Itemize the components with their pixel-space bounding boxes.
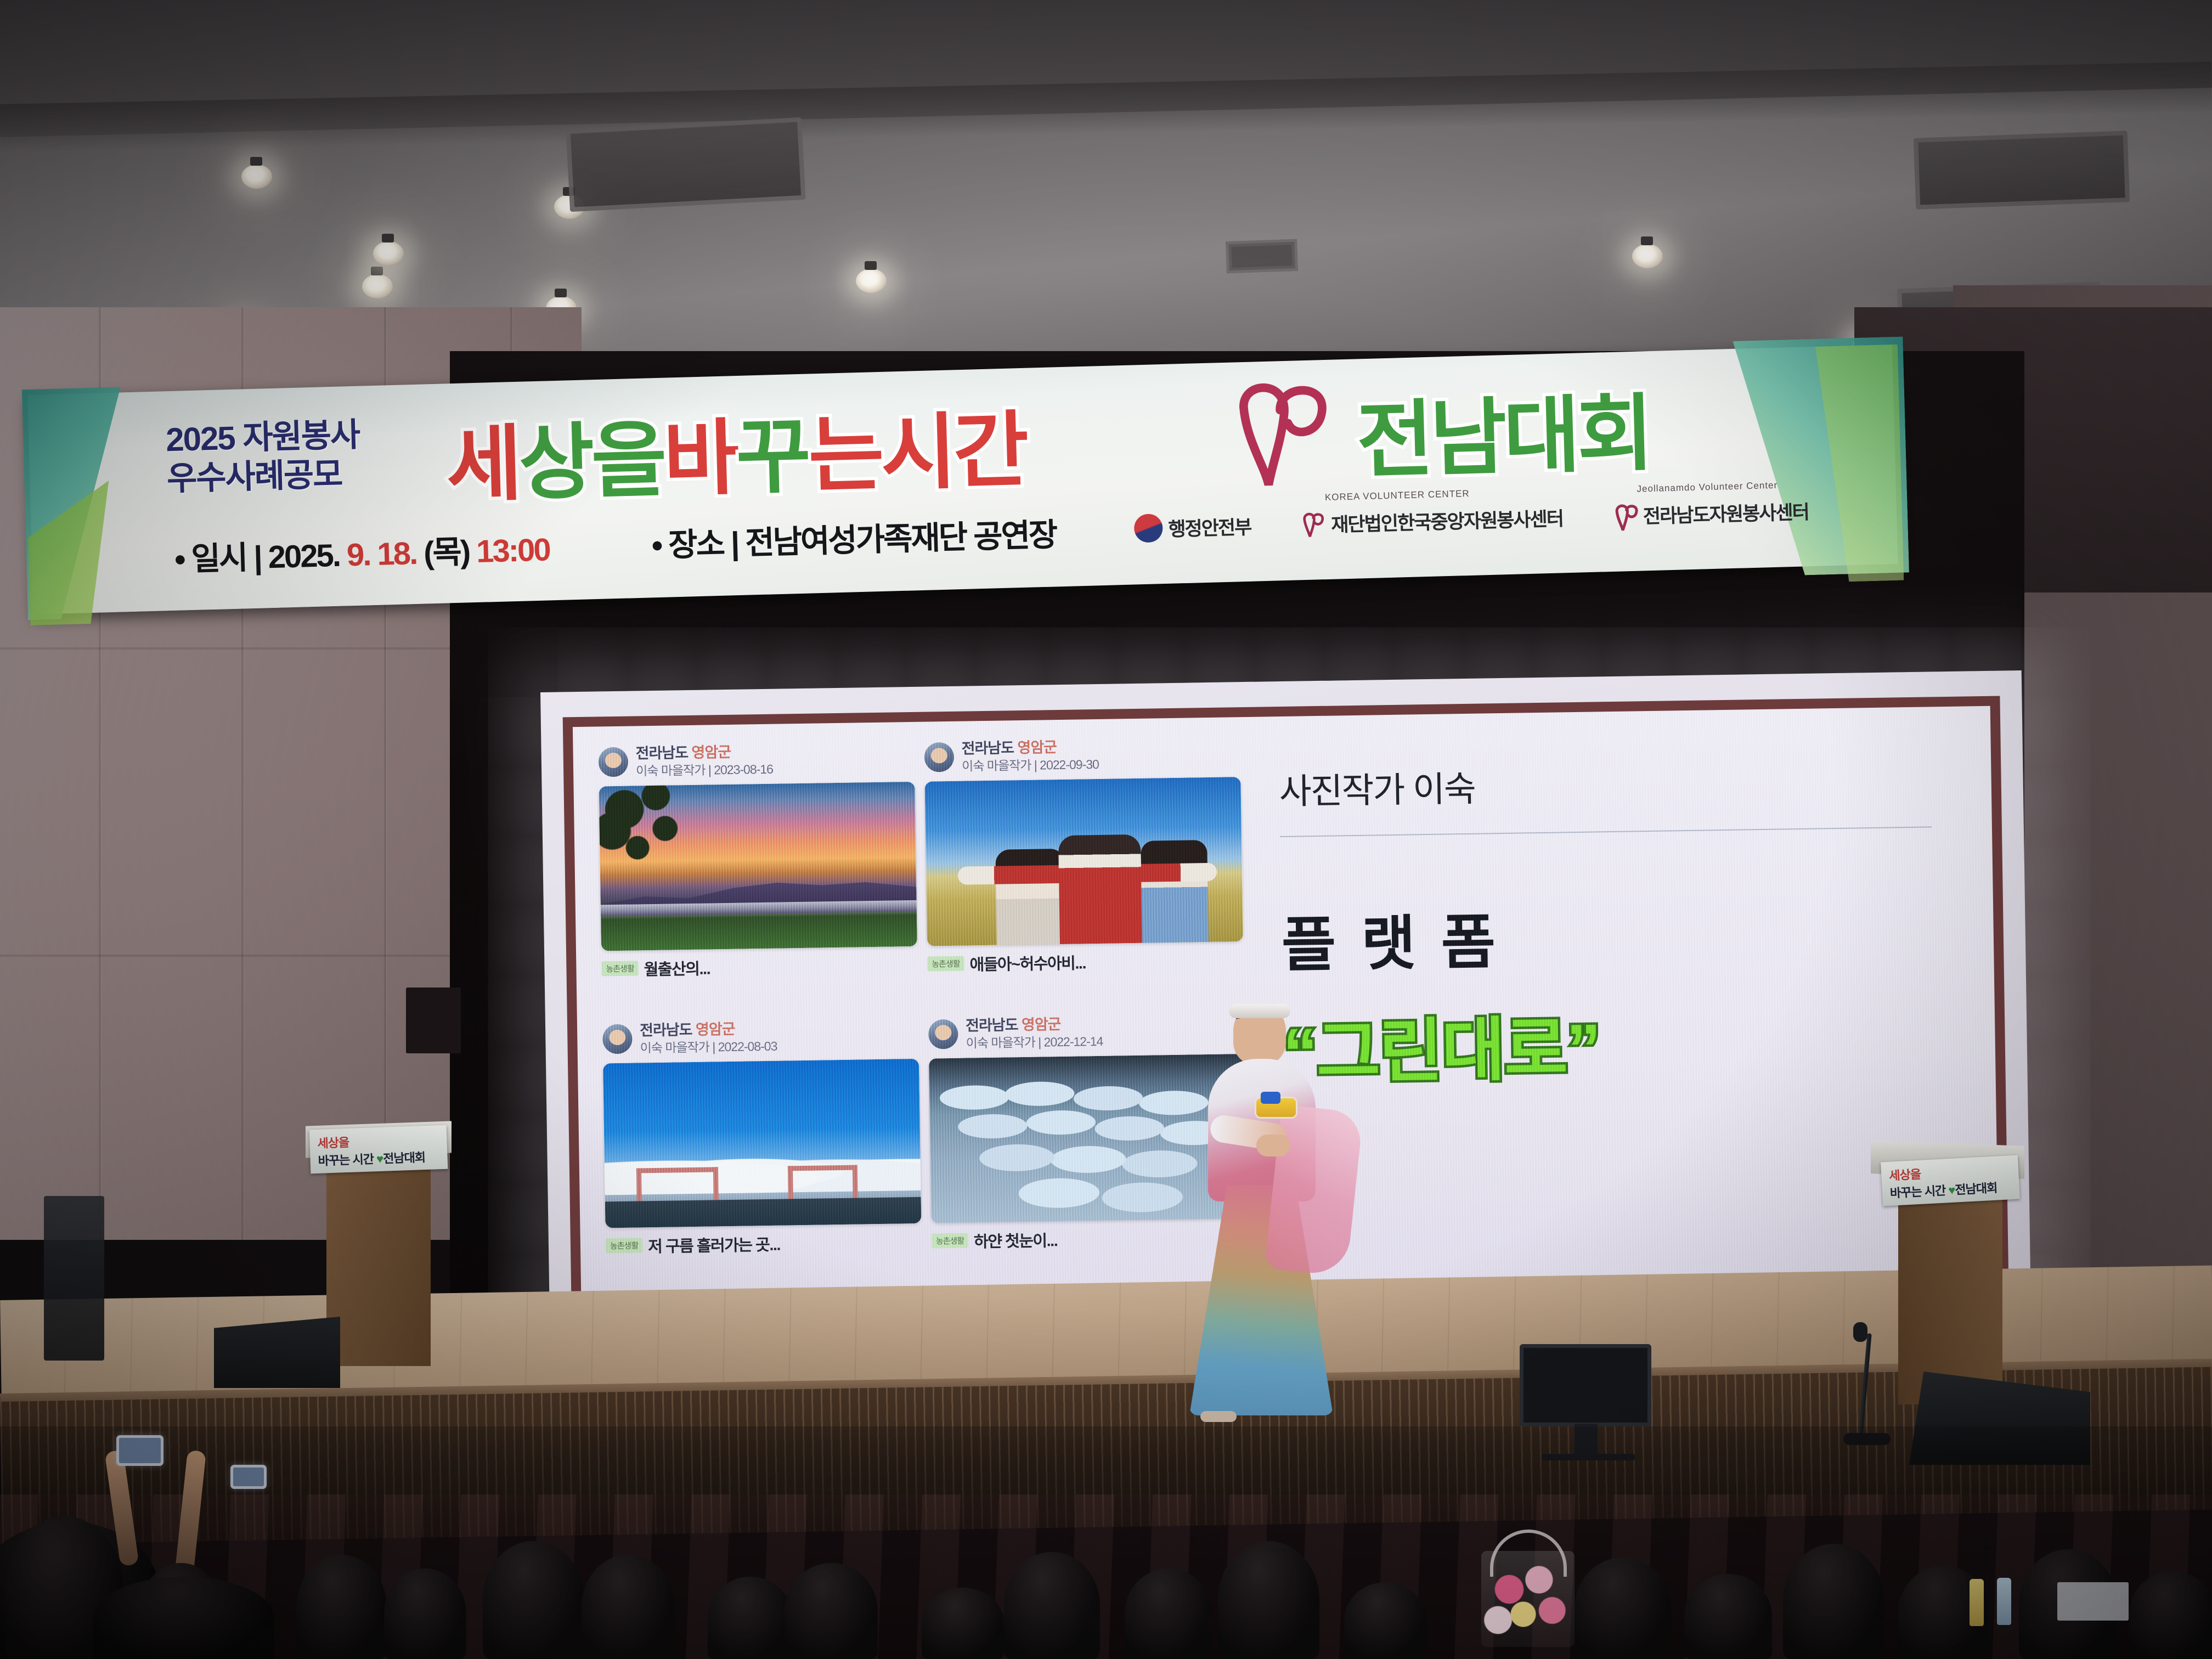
presenter-headband [1229, 1004, 1290, 1018]
ceiling-vent [1226, 239, 1298, 274]
card-header: 전라남도 영암군 이숙 마을작가 | 2022-08-03 [602, 1018, 919, 1057]
organization-name: 재단법인한국중앙자원봉사센터 [1331, 503, 1564, 537]
audience-member [1218, 1541, 1319, 1659]
card-subtitle: 이숙 마을작가 | 2023-08-16 [636, 761, 773, 778]
banner-organizations: 행정안전부 KOREA VOLUNTEER CENTER 재단법인한국중앙자원봉… [1134, 496, 1809, 543]
banner-place: • 장소 | 전남여성가족재단 공연장 [651, 509, 1057, 566]
card-tag: 농촌생활 [606, 1238, 643, 1253]
card-caption-row: 농촌생활 애들아~허수아비... [927, 948, 1244, 976]
slide-speaker-label: 사진작가 이숙 [1279, 754, 1959, 814]
card-region-prefix: 전라남도 [961, 740, 1014, 757]
card-region-prefix: 전라남도 [966, 1017, 1018, 1034]
audience-member [1004, 1552, 1100, 1659]
audience-member [296, 1555, 387, 1659]
audience-phone-screen [116, 1435, 163, 1466]
ceiling-vent [566, 117, 805, 212]
podium-sign-line2: 바꾸는 시간 ♥전남대회 [318, 1147, 448, 1169]
audience-member [483, 1541, 584, 1659]
card-region: 전라남도 영암군 [961, 739, 1057, 757]
audience-member [1125, 1568, 1212, 1659]
card-header: 전라남도 영암군 이숙 마을작가 | 2023-08-16 [598, 741, 915, 780]
banner-char-5: 꾸 [734, 390, 810, 510]
banner-subtitle: 2025 자원봉사 우수사례공모 [165, 413, 453, 499]
podium-sign-left: 세상을 바꾸는 시간 ♥전남대회 [309, 1125, 448, 1174]
audience-member [1684, 1574, 1772, 1659]
banner-datetime: • 일시 | 2025. 9. 18. (목) 13:00 [174, 523, 550, 579]
banner-date-day: (목) [423, 534, 470, 571]
audience-member [1783, 1544, 1884, 1659]
slide-keyword: 플 랫 폼 [1281, 888, 1961, 983]
microphone-head-icon [1853, 1322, 1867, 1342]
auditorium-stage-photo: 2025 자원봉사 우수사례공모 세상을바꾸는시간 전남대회 • 일시 | 20… [0, 0, 2212, 1659]
card-caption: 하얀 첫눈이... [974, 1228, 1058, 1252]
card-header: 전라남도 영암군 이숙 마을작가 | 2022-09-30 [924, 736, 1240, 775]
podium-sign-line2-a: 바꾸는 시간 [1889, 1183, 1949, 1200]
photo-card-grid: 전라남도 영암군 이숙 마을작가 | 2023-08-16 농촌생활 월출산의 [573, 717, 1261, 1300]
card-tag: 농촌생활 [932, 1233, 969, 1249]
ceiling-spotlight [856, 269, 887, 293]
card-caption: 애들아~허수아비... [969, 950, 1086, 975]
banner-char-8: 간 [951, 383, 1027, 504]
ceiling-spotlight [362, 274, 393, 298]
card-meta: 전라남도 영암군 이숙 마을작가 | 2022-09-30 [961, 738, 1099, 774]
organization-name: 행정안전부 [1168, 511, 1251, 541]
ceiling-spotlight [241, 165, 272, 189]
avatar [928, 1019, 958, 1049]
audience-member [708, 1577, 793, 1659]
photo-card: 전라남도 영암군 이숙 마을작가 | 2023-08-16 농촌생활 월출산의 [598, 741, 918, 1017]
podium-sign-line2-b: 전남대회 [383, 1150, 426, 1166]
card-region: 전라남도 영암군 [635, 744, 731, 762]
card-region-prefix: 전라남도 [635, 744, 688, 761]
banner-right-title: 전남대회 [1355, 365, 1652, 494]
heart-icon: ♥ [376, 1152, 383, 1166]
water-bottle [1970, 1579, 1984, 1626]
wall-speaker-left [44, 1196, 104, 1361]
banner-time-value: 13:00 [476, 532, 550, 569]
card-region-name: 영암군 [1017, 739, 1057, 756]
organization-logo-moi: 행정안전부 [1134, 511, 1251, 543]
heart-icon [1300, 510, 1326, 538]
card-meta: 전라남도 영암군 이숙 마을작가 | 2022-08-03 [640, 1020, 777, 1056]
presenter-shoe [1200, 1411, 1237, 1422]
audience-member [1344, 1582, 1426, 1659]
card-subtitle: 이숙 마을작가 | 2022-08-03 [640, 1038, 777, 1056]
banner-char-1: 세 [444, 397, 520, 518]
podium-sign-right: 세상을 바꾸는 시간 ♥전남대회 [1881, 1155, 2020, 1206]
card-photo-scarecrow-field [924, 777, 1243, 946]
avatar [924, 742, 954, 772]
card-tag: 농촌생활 [601, 961, 639, 976]
card-photo-sunset-mountain [599, 781, 917, 951]
audience-member [93, 1577, 274, 1659]
organization-name: 전라남도자원봉사센터 [1643, 496, 1809, 529]
card-subtitle: 이숙 마을작가 | 2022-09-30 [962, 757, 1099, 774]
card-region-name: 영암군 [696, 1021, 735, 1038]
card-region: 전라남도 영암군 [966, 1016, 1061, 1034]
podium-left [326, 1152, 431, 1366]
banner-main-title: 세상을바꾸는시간 [444, 383, 1027, 518]
card-region-prefix: 전라남도 [640, 1022, 692, 1039]
avatar [599, 747, 629, 777]
card-subtitle: 이숙 마을작가 | 2022-12-14 [966, 1034, 1103, 1051]
audience-member [785, 1563, 878, 1659]
card-region-name: 영암군 [1022, 1016, 1061, 1033]
podium-sign-line2-a: 바꾸는 시간 [318, 1152, 376, 1168]
card-caption: 저 구름 흘러가는 곳... [648, 1232, 780, 1257]
banner-char-6: 는 [806, 387, 882, 508]
banner-char-3: 을 [589, 393, 665, 514]
banner-date-value: 9. 18. [346, 535, 417, 573]
podium-right [1898, 1174, 2002, 1404]
audience-member [922, 1588, 1004, 1659]
organization-logo-kvc: KOREA VOLUNTEER CENTER 재단법인한국중앙자원봉사센터 [1300, 503, 1564, 538]
banner-subtitle-line2: 우수사례공모 [166, 452, 453, 499]
confidence-monitor [1520, 1344, 1651, 1426]
audience [0, 1426, 2212, 1659]
ceiling-spotlight [1632, 244, 1663, 268]
organization-name-en: KOREA VOLUNTEER CENTER [1325, 488, 1470, 503]
desk-sign [2057, 1582, 2129, 1621]
audience-member [384, 1568, 466, 1659]
card-caption-row: 농촌생활 저 구름 흘러가는 곳... [606, 1229, 922, 1257]
card-region: 전라남도 영암군 [640, 1021, 735, 1039]
photo-card: 전라남도 영암군 이숙 마을작가 | 2022-09-30 농촌생활 애들아~ [924, 736, 1244, 1012]
audience-member [2129, 1571, 2212, 1659]
stage-monitor-wedge-left [214, 1317, 340, 1388]
card-photo-shipyard-crane [603, 1058, 921, 1228]
card-caption-row: 농촌생활 월출산의... [601, 952, 918, 980]
card-meta: 전라남도 영암군 이숙 마을작가 | 2022-12-14 [966, 1015, 1103, 1051]
audience-member [1575, 1558, 1671, 1659]
card-region-name: 영암군 [691, 744, 731, 761]
presenter-hands [1256, 1135, 1290, 1156]
ceiling-spotlight [373, 241, 404, 266]
organization-logo-jvc: Jeollanamdo Volunteer Center 전라남도자원봉사센터 [1612, 496, 1809, 530]
podium-sign-line2-b: 전남대회 [1955, 1181, 1997, 1197]
heart-icon [1612, 501, 1638, 529]
audience-phone-screen [230, 1465, 267, 1489]
ceiling-vent [1914, 131, 2130, 210]
photo-card: 전라남도 영암군 이숙 마을작가 | 2022-08-03 농촌생활 저 구름 [602, 1018, 922, 1294]
card-tag: 농촌생활 [927, 956, 964, 972]
audience-member [582, 1555, 675, 1659]
organization-name-en: Jeollanamdo Volunteer Center [1637, 480, 1778, 495]
wall-speaker-panel [406, 988, 461, 1053]
slide-quote: “그린대로” [1282, 988, 1963, 1097]
presenter-name-badge [1256, 1098, 1296, 1117]
slide-divider [1280, 826, 1932, 837]
presenter [1174, 1004, 1350, 1421]
banner-char-2: 상 [517, 395, 592, 516]
taegeuk-icon [1134, 513, 1163, 543]
banner-date-label: • 일시 | 2025. [174, 538, 340, 578]
banner-char-7: 시 [879, 385, 955, 506]
banner-char-4: 바 [662, 391, 737, 512]
water-bottle [1997, 1578, 2011, 1625]
avatar [602, 1024, 633, 1054]
heart-logo-icon [1223, 376, 1341, 489]
card-caption: 월출산의... [644, 956, 710, 980]
card-meta: 전라남도 영암군 이숙 마을작가 | 2023-08-16 [635, 743, 773, 779]
